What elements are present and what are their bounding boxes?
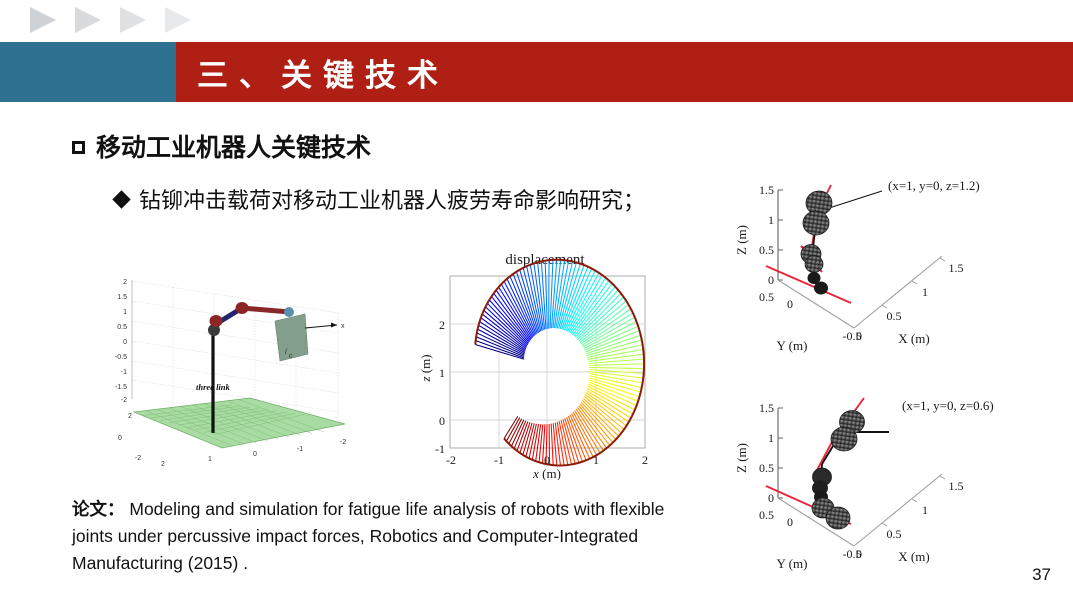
- z-tick-label: 1: [768, 431, 774, 445]
- bullet-item: 钻铆冲击载荷对移动工业机器人疲劳寿命影响研究；: [115, 186, 675, 215]
- x-tick-label: 2: [642, 453, 648, 467]
- z-tick-label: 0.5: [759, 508, 774, 522]
- slide-canvas: 三、关键技术 移动工业机器人关键技术 钻铆冲击载荷对移动工业机器人疲劳寿命影响研…: [0, 0, 1073, 597]
- figure-pose-z12: 1.5 1 0.5 0 0.5 Z (m) 0 -0.5 Y (m): [704, 168, 1069, 368]
- robot-link: [242, 308, 290, 312]
- x-tick-label: -2: [446, 453, 456, 467]
- square-bullet-icon: [72, 141, 85, 154]
- bullet-item-label: 钻铆冲击载荷对移动工业机器人疲劳寿命影响研究；: [115, 186, 675, 215]
- x-tick-label: 0: [856, 329, 862, 343]
- z-axis-label: Z (m): [734, 443, 749, 473]
- robot-joint: [236, 302, 249, 314]
- z-axis-label: Z (m): [734, 225, 749, 255]
- y-tick-label: -2: [135, 455, 141, 462]
- decorative-arrow-strip: [0, 0, 1073, 42]
- robot-joint: [210, 315, 223, 327]
- x-axis-arrow-label: x: [341, 323, 345, 330]
- figure-displacement: displacement 2 1 0 -1: [418, 248, 673, 480]
- z-tick-label: 0.5: [117, 324, 127, 331]
- x-tick-label: 1: [208, 456, 212, 463]
- section-title: 三、关键技术: [176, 50, 449, 95]
- z-tick-label: 0.5: [759, 243, 774, 257]
- chevron-right-icon: [30, 7, 56, 33]
- chevron-right-icon: [165, 7, 191, 33]
- y-tick-label: 2: [439, 318, 445, 332]
- x-tick-label: 0.5: [887, 527, 902, 541]
- x-tick-label: 0: [544, 453, 550, 467]
- paper-caption: 论文： Modeling and simulation for fatigue …: [72, 496, 682, 577]
- y-tick-label: 0: [787, 515, 793, 529]
- sphere-chain: [801, 191, 832, 295]
- paper-caption-label: 论文：: [72, 499, 125, 519]
- y-axis-label: Y (m): [777, 556, 808, 571]
- z-tick-label: 1.5: [759, 183, 774, 197]
- z-tick-label: 2: [123, 279, 127, 286]
- three-link-3d-plot: 2 1.5 1 0.5 0 -0.5 -1 -1.5 -2: [100, 266, 395, 486]
- chevron-right-icon: [120, 7, 146, 33]
- x-tick-label: -1: [494, 453, 504, 467]
- x-axis-label: x (m): [532, 466, 561, 480]
- y-tick-label: 0: [118, 435, 122, 442]
- x-tick-label: 1: [593, 453, 599, 467]
- pose-annotation: (x=1, y=0, z=1.2): [888, 178, 980, 193]
- y-axis-label: z (m): [418, 354, 433, 382]
- x-tick-label: -1: [297, 446, 303, 453]
- z-tick-label: 0.5: [759, 461, 774, 475]
- section-banner: 三、关键技术: [0, 42, 1073, 102]
- z-tick-label: 0: [768, 491, 774, 505]
- z-tick-label: 1.5: [117, 294, 127, 301]
- sphere-chain: [812, 411, 865, 530]
- banner-title-block: 三、关键技术: [176, 42, 1073, 102]
- z-tick-label: 0: [768, 273, 774, 287]
- paper-caption-text: Modeling and simulation for fatigue life…: [72, 499, 664, 573]
- x-tick-label: 1: [922, 503, 928, 517]
- pose-annotation: (x=1, y=0, z=0.6): [902, 398, 994, 413]
- pose-z12-plot: 1.5 1 0.5 0 0.5 Z (m) 0 -0.5 Y (m): [704, 168, 1069, 368]
- heading-primary: 移动工业机器人关键技术: [72, 128, 371, 164]
- y-tick-label: 1: [439, 366, 445, 380]
- z-tick-label: 0: [123, 339, 127, 346]
- chevron-right-icon: [75, 7, 101, 33]
- x-tick-label: 1.5: [949, 479, 964, 493]
- x-tick-label: 0: [253, 451, 257, 458]
- y-tick-label: 0: [439, 414, 445, 428]
- z-tick-label: -1.5: [115, 384, 127, 391]
- x-tick-label: 2: [161, 461, 165, 468]
- z-tick-label: -2: [121, 397, 127, 404]
- displacement-plot: displacement 2 1 0 -1: [418, 248, 673, 480]
- x-tick-label: 1: [922, 285, 928, 299]
- z-tick-label: -0.5: [115, 354, 127, 361]
- banner-accent-block: [0, 42, 176, 102]
- z-tick-label: 1: [768, 213, 774, 227]
- x-tick-label: 1.5: [949, 261, 964, 275]
- three-link-annotation: three link: [196, 382, 231, 392]
- y-axis-label: Y (m): [777, 338, 808, 353]
- pose-z06-plot: 1.5 1 0.5 0 0.5 Z (m) 0 -0.5 Y (m): [704, 384, 1069, 582]
- y-tick-label: -1: [435, 442, 445, 456]
- z-tick-label: -1: [121, 369, 127, 376]
- z-tick-label: 0.5: [759, 290, 774, 304]
- x-tick-label: 0: [856, 547, 862, 561]
- robot-joint: [284, 307, 294, 317]
- link-length-subscript: c: [289, 353, 293, 360]
- figure-pose-z06: 1.5 1 0.5 0 0.5 Z (m) 0 -0.5 Y (m): [704, 384, 1069, 582]
- x-tick-label: -2: [340, 439, 346, 446]
- x-axis-label: X (m): [898, 331, 929, 346]
- heading-primary-label: 移动工业机器人关键技术: [96, 134, 371, 162]
- y-tick-label: 0: [787, 297, 793, 311]
- page-number: 37: [1032, 565, 1051, 585]
- z-tick-label: 1.5: [759, 401, 774, 415]
- x-tick-label: 0.5: [887, 309, 902, 323]
- z-tick-label: 1: [123, 309, 127, 316]
- x-axis-label: X (m): [898, 549, 929, 564]
- figure-three-link-3d: 2 1.5 1 0.5 0 -0.5 -1 -1.5 -2: [100, 266, 395, 486]
- y-tick-label: 2: [128, 413, 132, 420]
